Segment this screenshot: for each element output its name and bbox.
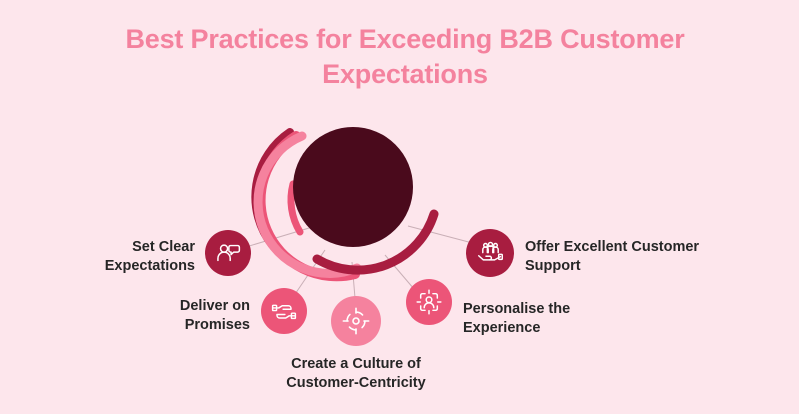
hand-holding-people-icon [476, 239, 505, 268]
label-personalise-the-experience: Personalise the Experience [463, 300, 643, 338]
label-create-a-culture-of-customer-centricity: Create a Culture of Customer-Centricity [266, 355, 446, 393]
node-personalise-the-experience[interactable] [406, 279, 452, 325]
person-crosshair-icon [415, 288, 443, 316]
node-create-a-culture-of-customer-centricity[interactable] [331, 296, 381, 346]
node-set-clear-expectations[interactable] [205, 230, 251, 276]
diagram-stage: Set Clear Expectations Deliver on Promis… [0, 0, 799, 414]
central-hub-circle [293, 127, 413, 247]
target-bullseye-icon [341, 306, 371, 336]
label-offer-excellent-customer-support: Offer Excellent Customer Support [525, 238, 755, 276]
node-offer-excellent-customer-support[interactable] [466, 229, 514, 277]
label-set-clear-expectations: Set Clear Expectations [60, 238, 195, 276]
handshake-icon [270, 297, 298, 325]
node-deliver-on-promises[interactable] [261, 288, 307, 334]
label-deliver-on-promises: Deliver on Promises [110, 297, 250, 335]
infographic-root: Best Practices for Exceeding B2B Custome… [0, 0, 799, 414]
person-speech-bubble-icon [214, 239, 242, 267]
diagram-svg [0, 0, 799, 414]
